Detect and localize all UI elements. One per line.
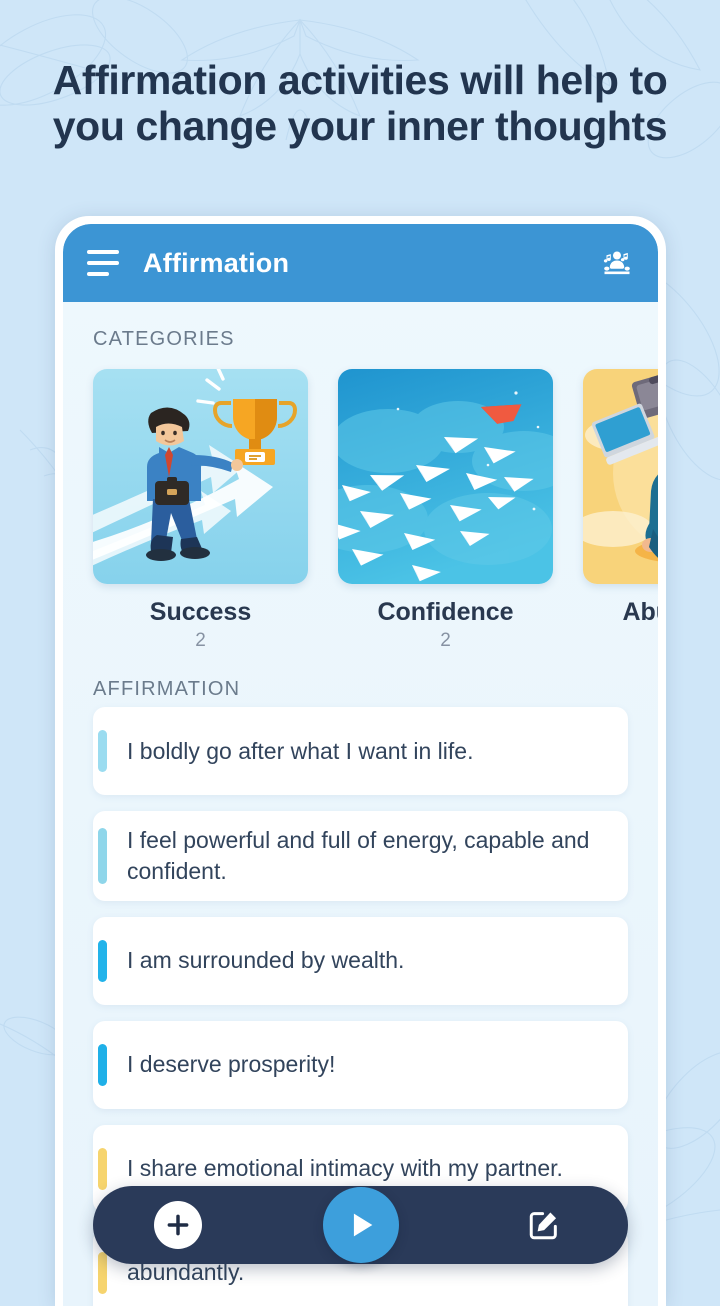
accent-bar <box>98 940 107 982</box>
affirmation-text: I deserve prosperity! <box>127 1049 335 1080</box>
compose-edit-icon <box>527 1208 561 1242</box>
bottom-action-bar <box>93 1186 628 1264</box>
add-button[interactable] <box>154 1201 202 1249</box>
category-count: 2 <box>583 630 658 652</box>
play-icon <box>344 1208 378 1242</box>
affirmation-text: I share emotional intimacy with my partn… <box>127 1153 563 1184</box>
categories-section-label: CATEGORIES <box>63 302 658 351</box>
accent-bar <box>98 828 107 884</box>
affirmation-text: I boldly go after what I want in life. <box>127 736 473 767</box>
page-title: Affirmation <box>143 248 289 279</box>
meditation-music-icon[interactable] <box>600 246 634 280</box>
accent-bar <box>98 1252 107 1294</box>
category-image-confidence <box>338 369 553 584</box>
hamburger-menu-icon[interactable] <box>87 250 121 276</box>
plus-icon <box>165 1212 191 1238</box>
list-item[interactable]: I feel powerful and full of energy, capa… <box>93 811 628 901</box>
headline-line-2: you change your inner thoughts <box>18 104 702 150</box>
app-screen: Affirmation CATEGORIES <box>63 224 658 1306</box>
accent-bar <box>98 730 107 772</box>
category-image-abundance <box>583 369 658 584</box>
affirmation-text: I am surrounded by wealth. <box>127 945 404 976</box>
accent-bar <box>98 1044 107 1086</box>
phone-mockup: Affirmation CATEGORIES <box>55 216 666 1306</box>
promo-headline: Affirmation activities will help to you … <box>0 58 720 150</box>
headline-line-1: Affirmation activities will help to <box>18 58 702 104</box>
category-name: Confidence <box>338 598 553 627</box>
category-card-confidence[interactable]: Confidence 2 <box>338 369 553 652</box>
list-item[interactable]: I deserve prosperity! <box>93 1021 628 1109</box>
category-count: 2 <box>93 630 308 652</box>
app-header-bar: Affirmation <box>63 224 658 302</box>
edit-button[interactable] <box>521 1202 567 1248</box>
affirmation-section-label: AFFIRMATION <box>63 652 658 701</box>
category-count: 2 <box>338 630 553 652</box>
categories-row[interactable]: Success 2 <box>63 351 658 652</box>
list-item[interactable]: I am surrounded by wealth. <box>93 917 628 1005</box>
play-button[interactable] <box>323 1187 399 1263</box>
list-item[interactable]: I boldly go after what I want in life. <box>93 707 628 795</box>
accent-bar <box>98 1148 107 1190</box>
category-card-success[interactable]: Success 2 <box>93 369 308 652</box>
category-image-success <box>93 369 308 584</box>
affirmation-text: I feel powerful and full of energy, capa… <box>127 825 597 887</box>
category-card-abundance[interactable]: Abundance 2 <box>583 369 658 652</box>
category-name: Success <box>93 598 308 627</box>
category-name: Abundance <box>583 598 658 627</box>
